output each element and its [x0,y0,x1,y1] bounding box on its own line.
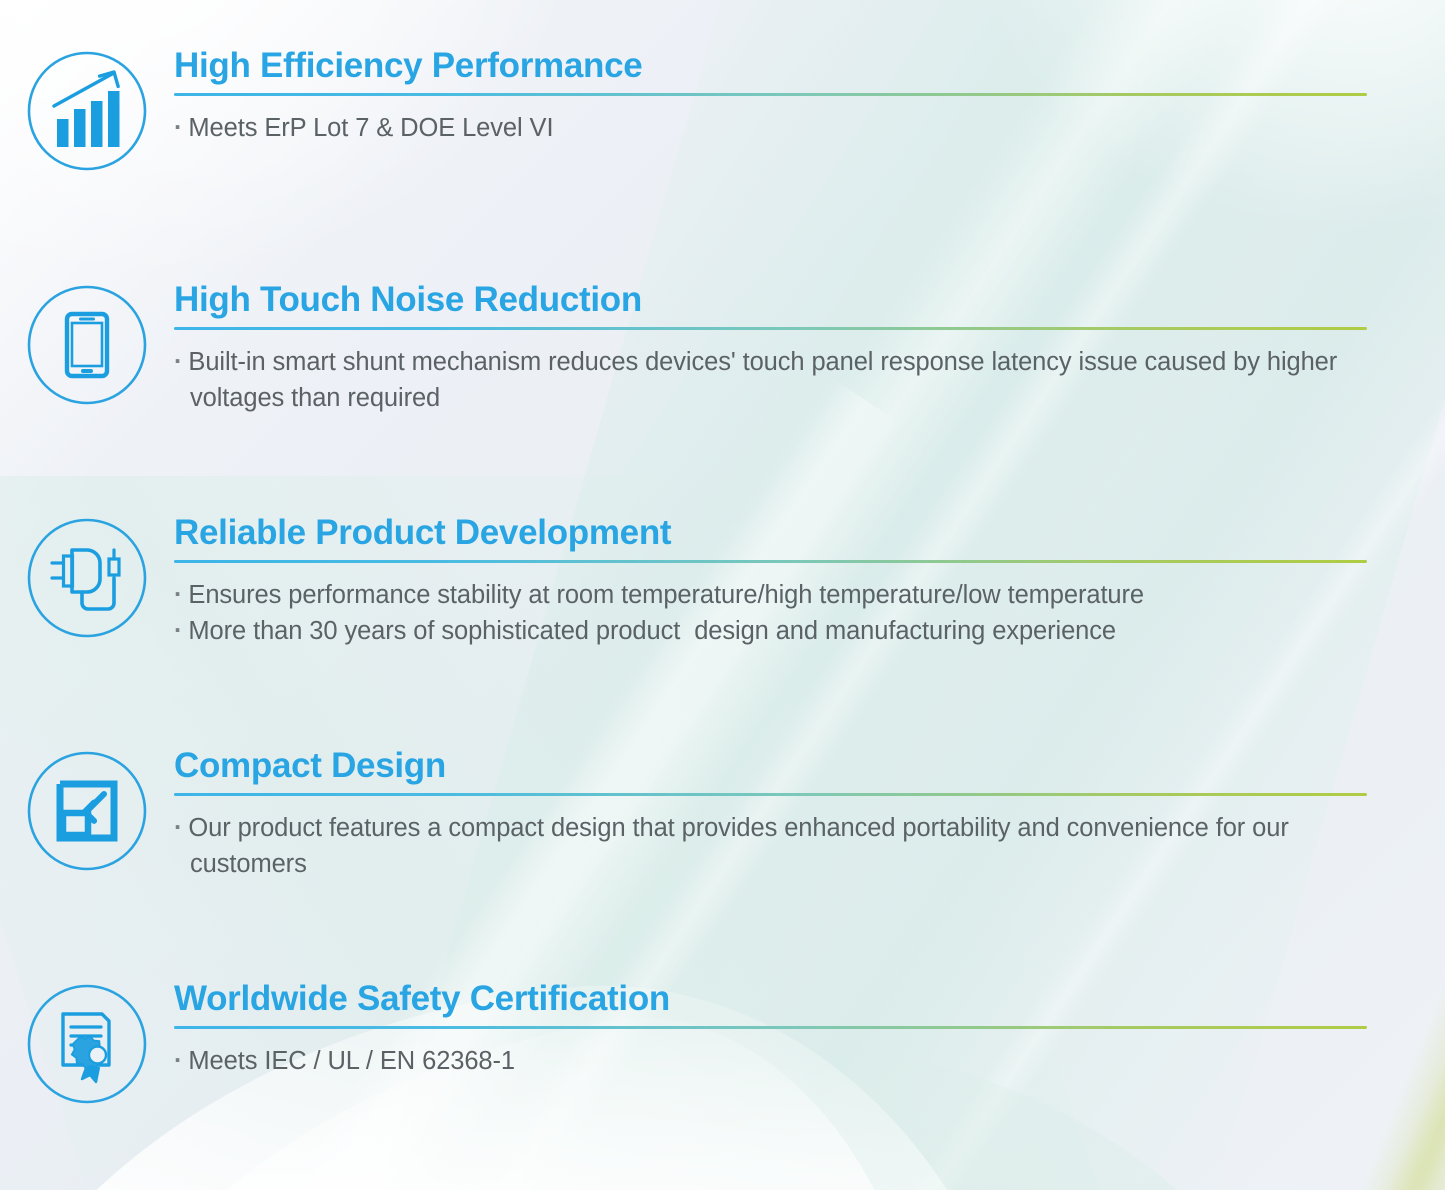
bullet-item: ·Built-in smart shunt mechanism reduces … [174,344,1367,416]
bullet-item: ·More than 30 years of sophisticated pro… [174,613,1367,649]
compact-resize-icon [26,750,148,872]
smartphone-icon [26,284,148,406]
feature-body: High Efficiency Performance ·Meets ErP L… [174,46,1445,146]
feature-bullets: ·Our product features a compact design t… [174,810,1367,882]
bullet-text: More than 30 years of sophisticated prod… [188,617,1116,645]
bullet-text: Built-in smart shunt mechanism reduces d… [188,348,1344,412]
feature-divider [174,327,1367,330]
bullet-text: Meets ErP Lot 7 & DOE Level VI [188,114,553,142]
feature-title: Worldwide Safety Certification [174,979,1367,1018]
feature-title: High Efficiency Performance [174,46,1367,85]
feature-icon-wrap [0,979,174,1105]
bullet-text: Meets IEC / UL / EN 62368-1 [188,1047,515,1075]
feature-item-high-touch-noise-reduction: High Touch Noise Reduction ·Built-in sma… [0,280,1445,417]
feature-item-high-efficiency-performance: High Efficiency Performance ·Meets ErP L… [0,46,1445,172]
feature-item-worldwide-safety-certification: Worldwide Safety Certification ·Meets IE… [0,979,1445,1105]
bullet-item: ·Ensures performance stability at room t… [174,577,1367,613]
feature-bullets: ·Meets ErP Lot 7 & DOE Level VI [174,110,1367,146]
feature-title: Compact Design [174,746,1367,785]
bullet-marker: · [174,581,182,609]
feature-body: Worldwide Safety Certification ·Meets IE… [174,979,1445,1079]
bullet-text: Our product features a compact design th… [188,814,1295,878]
power-adapter-icon [26,517,148,639]
feature-divider [174,793,1367,796]
certificate-seal-icon [26,983,148,1105]
feature-divider [174,560,1367,563]
feature-item-reliable-product-development: Reliable Product Development ·Ensures pe… [0,513,1445,650]
feature-title: Reliable Product Development [174,513,1367,552]
bullet-text: Ensures performance stability at room te… [188,581,1144,609]
feature-icon-wrap [0,280,174,406]
feature-icon-wrap [0,746,174,872]
feature-list: High Efficiency Performance ·Meets ErP L… [0,0,1445,1190]
feature-icon-wrap [0,513,174,639]
bullet-marker: · [174,114,182,142]
bullet-item: ·Our product features a compact design t… [174,810,1367,882]
feature-body: Compact Design ·Our product features a c… [174,746,1445,883]
feature-bullets: ·Built-in smart shunt mechanism reduces … [174,344,1367,416]
feature-divider [174,1026,1367,1029]
bullet-item: ·Meets IEC / UL / EN 62368-1 [174,1043,1367,1079]
feature-body: Reliable Product Development ·Ensures pe… [174,513,1445,650]
feature-title: High Touch Noise Reduction [174,280,1367,319]
feature-bullets: ·Meets IEC / UL / EN 62368-1 [174,1043,1367,1079]
bullet-marker: · [174,814,182,842]
bullet-item: ·Meets ErP Lot 7 & DOE Level VI [174,110,1367,146]
bar-chart-growth-icon [26,50,148,172]
feature-item-compact-design: Compact Design ·Our product features a c… [0,746,1445,883]
feature-icon-wrap [0,46,174,172]
bullet-marker: · [174,617,182,645]
feature-divider [174,93,1367,96]
feature-body: High Touch Noise Reduction ·Built-in sma… [174,280,1445,417]
bullet-marker: · [174,1047,182,1075]
feature-bullets: ·Ensures performance stability at room t… [174,577,1367,649]
bullet-marker: · [174,348,182,376]
